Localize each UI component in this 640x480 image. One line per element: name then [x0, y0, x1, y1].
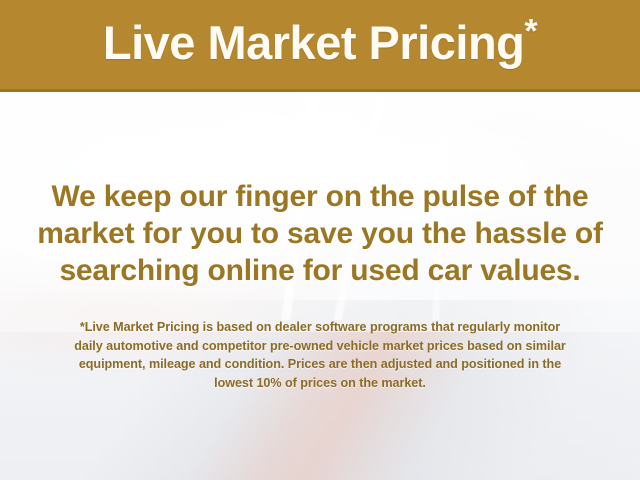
page-title: Live Market Pricing*: [103, 19, 537, 70]
page-title-text: Live Market Pricing: [103, 16, 525, 69]
headline-copy: We keep our finger on the pulse of the m…: [0, 178, 640, 289]
title-asterisk-marker: *: [524, 12, 537, 50]
disclaimer-line-1: *Live Market Pricing is based on dealer …: [22, 318, 618, 337]
headline-line-2: market for you to save you the hassle of: [24, 215, 616, 252]
disclaimer-text: *Live Market Pricing is based on dealer …: [0, 318, 640, 392]
headline-line-3: searching online for used car values.: [24, 252, 616, 289]
header-banner: Live Market Pricing*: [0, 0, 640, 92]
live-market-pricing-slide: Live Market Pricing* We keep our finger …: [0, 0, 640, 480]
disclaimer-line-3: equipment, mileage and condition. Prices…: [22, 355, 618, 374]
disclaimer-line-2: daily automotive and competitor pre-owne…: [22, 337, 618, 356]
headline-line-1: We keep our finger on the pulse of the: [24, 178, 616, 215]
disclaimer-line-4: lowest 10% of prices on the market.: [22, 374, 618, 393]
